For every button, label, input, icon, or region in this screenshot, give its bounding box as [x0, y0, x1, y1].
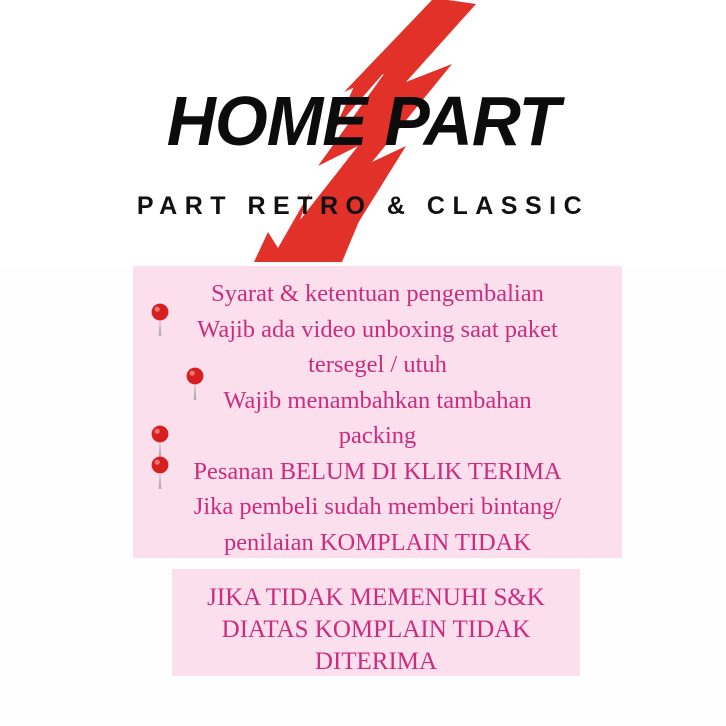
terms-line: Syarat & ketentuan pengembalian: [133, 276, 622, 312]
pushpin-icon: [150, 456, 170, 490]
pushpin-icon: [150, 303, 170, 337]
return-terms-text: Syarat & ketentuan pengembalian Wajib ad…: [133, 276, 622, 596]
terms-line: penilaian KOMPLAIN TIDAK: [133, 525, 622, 561]
logo-area: HOME PART PART RETRO & CLASSIC: [0, 0, 726, 266]
image-canvas: HOME PART PART RETRO & CLASSIC Syarat & …: [0, 0, 726, 726]
pushpin-icon: [185, 367, 205, 401]
terms-line: Jika pembeli sudah memberi bintang/: [133, 489, 622, 525]
return-terms-panel: Syarat & ketentuan pengembalian Wajib ad…: [133, 266, 622, 558]
terms-line: packing: [133, 418, 622, 454]
warning-text: JIKA TIDAK MEMENUHI S&K DIATAS KOMPLAIN …: [172, 582, 580, 678]
warning-line: DITERIMA: [172, 646, 580, 678]
warning-line: JIKA TIDAK MEMENUHI S&K: [172, 582, 580, 614]
terms-line: Wajib ada video unboxing saat paket: [133, 312, 622, 348]
pushpin-icon: [150, 425, 170, 459]
logo-wordmark: HOME PART: [11, 84, 715, 158]
warning-line: DIATAS KOMPLAIN TIDAK: [172, 614, 580, 646]
terms-line: tersegel / utuh: [133, 347, 622, 383]
logo-tagline: PART RETRO & CLASSIC: [0, 191, 726, 221]
terms-line: Pesanan BELUM DI KLIK TERIMA: [133, 454, 622, 490]
terms-line: Wajib menambahkan tambahan: [133, 383, 622, 419]
warning-panel: JIKA TIDAK MEMENUHI S&K DIATAS KOMPLAIN …: [172, 569, 580, 676]
